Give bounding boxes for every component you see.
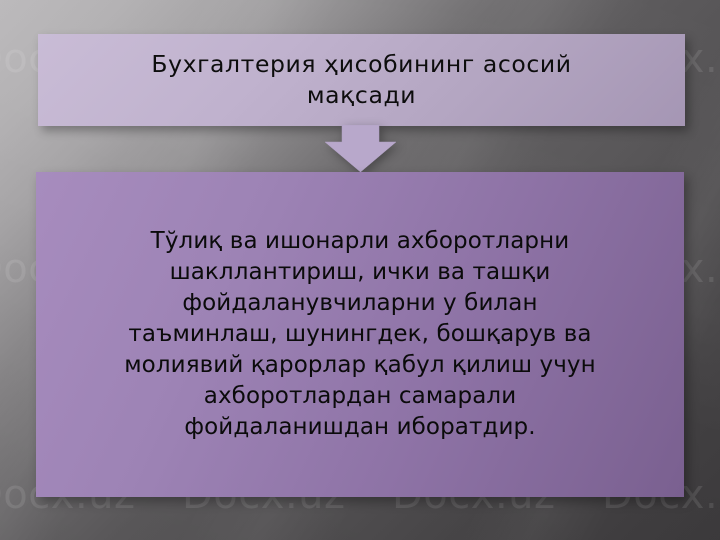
- slide-body-text: Тўлиқ ва ишонарли ахборотларни шаклланти…: [124, 226, 596, 442]
- slide-title-text: Бухгалтерия ҳисобининг асосий мақсади: [151, 49, 571, 110]
- down-arrow-icon: [324, 125, 397, 173]
- body-callout-box: Тўлиқ ва ишонарли ахборотларни шаклланти…: [36, 172, 684, 497]
- title-callout-box: Бухгалтерия ҳисобининг асосий мақсади: [38, 34, 685, 126]
- presentation-slide: Docx.uzDocx.uzDocx.uzDocx.uzDocx.uzDocx.…: [0, 0, 720, 540]
